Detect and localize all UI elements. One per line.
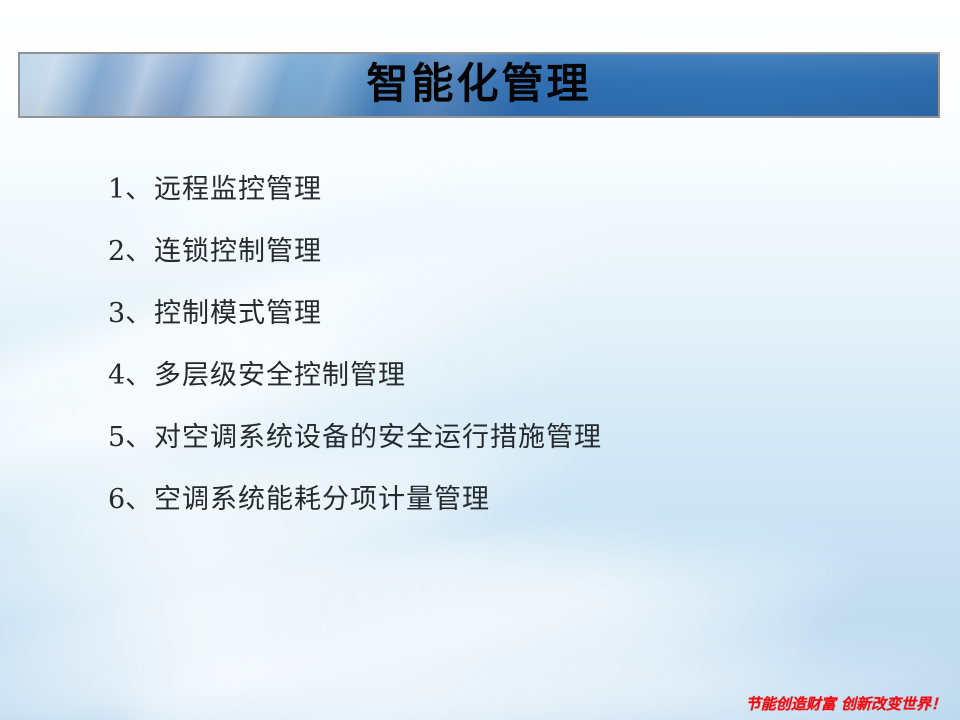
list-item-number: 3、 [108,300,154,327]
list-item: 3、 控制模式管理 [108,282,908,344]
list-item-label: 远程监控管理 [154,176,322,203]
slide-title: 智能化管理 [366,63,591,105]
footer-slogan: 节能创造财富 创新改变世界！ [746,697,946,712]
list-item-label: 多层级安全控制管理 [154,362,406,389]
list-item-label: 连锁控制管理 [154,238,322,265]
cloud-puff [113,562,827,720]
cloud-puff [325,513,855,687]
presentation-slide: 智能化管理 1、 远程监控管理 2、 连锁控制管理 3、 控制模式管理 4、 多… [0,0,960,720]
list-item-label: 控制模式管理 [154,300,322,327]
list-item-number: 4、 [108,362,154,389]
list-item: 1、 远程监控管理 [108,158,908,220]
list-item-number: 1、 [108,176,154,203]
slide-title-banner: 智能化管理 [18,52,940,118]
list-item: 2、 连锁控制管理 [108,220,908,282]
slide-body-list: 1、 远程监控管理 2、 连锁控制管理 3、 控制模式管理 4、 多层级安全控制… [108,158,908,530]
list-item: 4、 多层级安全控制管理 [108,344,908,406]
list-item-number: 2、 [108,238,154,265]
list-item-number: 6、 [108,486,154,513]
list-item-label: 对空调系统设备的安全运行措施管理 [154,424,602,451]
list-item-number: 5、 [108,424,154,451]
list-item-label: 空调系统能耗分项计量管理 [154,486,490,513]
list-item: 6、 空调系统能耗分项计量管理 [108,468,908,530]
list-item: 5、 对空调系统设备的安全运行措施管理 [108,406,908,468]
